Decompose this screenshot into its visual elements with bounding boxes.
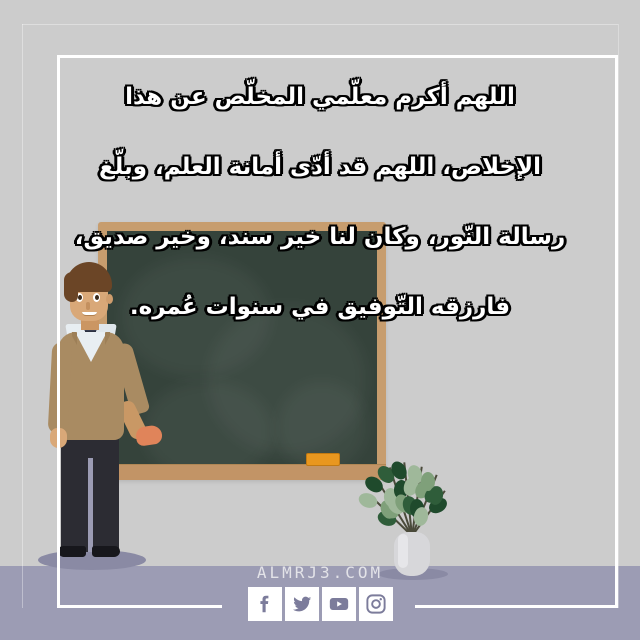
chalk-eraser [306, 453, 340, 466]
frame-border-left [57, 55, 60, 608]
outer-guide-top [22, 24, 618, 25]
potted-plant [358, 470, 468, 578]
quote-line-1: اللهم أكرم معلّمي المخلّص عن هذا [20, 62, 620, 132]
teacher-leg-gap [88, 458, 93, 552]
image-canvas: اللهم أكرم معلّمي المخلّص عن هذا الإخلاص… [0, 0, 640, 640]
social-links [0, 587, 640, 621]
social-link-twitter[interactable] [285, 587, 319, 621]
youtube-icon [328, 593, 350, 615]
frame-border-top [57, 55, 618, 58]
social-link-youtube[interactable] [322, 587, 356, 621]
quote-line-3: رسالة النّور، وكان لنا خير سند، وخير صدي… [20, 202, 620, 272]
twitter-icon [291, 593, 313, 615]
plant-leaf [357, 490, 380, 510]
teacher-right-hand [135, 424, 163, 446]
social-link-instagram[interactable] [359, 587, 393, 621]
facebook-icon [254, 593, 276, 615]
outer-guide-left [22, 24, 23, 608]
social-link-facebook[interactable] [248, 587, 282, 621]
teacher-right-shoe [92, 546, 120, 557]
frame-border-right [615, 55, 618, 608]
quote-line-2: الإخلاص، اللهم قد أدّى أمانة العلم، وبلّ… [20, 132, 620, 202]
outer-guide-right [618, 24, 619, 608]
instagram-icon [365, 593, 387, 615]
watermark-site-name: ALMRJ3.COM [0, 563, 640, 582]
quote-block: اللهم أكرم معلّمي المخلّص عن هذا الإخلاص… [20, 62, 620, 342]
chalk-smudge [277, 381, 367, 464]
teacher-left-shoe [58, 546, 86, 557]
quote-line-4: فارزقه التّوفيق في سنوات عُمره. [20, 272, 620, 342]
